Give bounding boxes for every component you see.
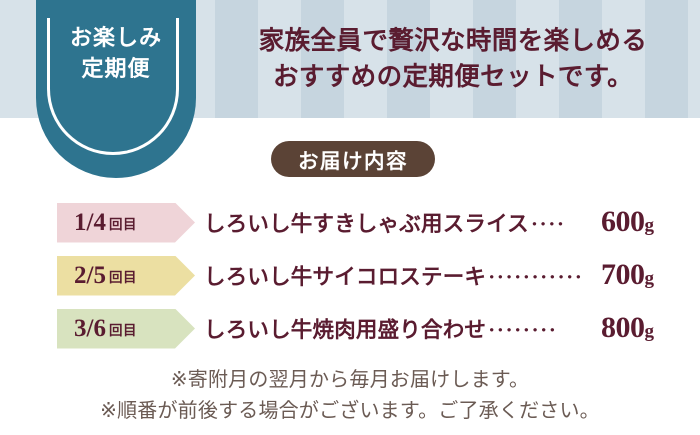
delivery-round-unit: 回目 <box>109 213 137 233</box>
shield-badge-line-2: 定期便 <box>36 53 196 84</box>
list-item: 1/4 回目 しろいし牛すきしゃぶ用スライス ···· 600 g <box>0 196 700 249</box>
delivery-contents-pill: お届け内容 <box>271 141 435 177</box>
delivery-item-name: しろいし牛すきしゃぶ用スライス <box>204 207 529 238</box>
footer-note-line-1: ※寄附月の翌月から毎月お届けします。 <box>0 365 700 396</box>
list-item: 2/5 回目 しろいし牛サイコロステーキ ··········· 700 g <box>0 249 700 302</box>
shield-badge-line-1: お楽しみ <box>36 22 196 53</box>
header-headline-line-1: 家族全員で贅沢な時間を楽しめる <box>259 24 648 58</box>
delivery-round-number: 1/4 <box>74 210 106 235</box>
dot-leader: ··········· <box>488 265 599 290</box>
footer-note-line-2: ※順番が前後する場合がございます。ご了承ください。 <box>0 396 700 427</box>
dot-leader: ········ <box>488 318 599 343</box>
delivery-item-name: しろいし牛焼肉用盛り合わせ <box>204 313 486 344</box>
delivery-schedule-list: 1/4 回目 しろいし牛すきしゃぶ用スライス ···· 600 g 2/5 回目… <box>0 196 700 355</box>
delivery-round-tag: 3/6 回目 <box>57 309 195 349</box>
delivery-item-amount: 600 <box>601 207 645 237</box>
shield-badge-label: お楽しみ 定期便 <box>36 22 196 84</box>
header-headline-line-2: おすすめの定期便セットです。 <box>273 60 633 94</box>
dot-leader: ···· <box>531 212 599 237</box>
delivery-item-body: しろいし牛すきしゃぶ用スライス ···· 600 g <box>204 207 654 238</box>
subscription-shield-badge: お楽しみ 定期便 <box>36 0 196 178</box>
delivery-round-number: 2/5 <box>74 263 106 288</box>
footer-notes: ※寄附月の翌月から毎月お届けします。 ※順番が前後する場合がございます。ご了承く… <box>0 365 700 427</box>
delivery-item-name: しろいし牛サイコロステーキ <box>204 260 486 291</box>
delivery-round-tag: 2/5 回目 <box>57 256 195 296</box>
list-item: 3/6 回目 しろいし牛焼肉用盛り合わせ ········ 800 g <box>0 302 700 355</box>
delivery-round-unit: 回目 <box>109 266 137 286</box>
delivery-item-body: しろいし牛焼肉用盛り合わせ ········ 800 g <box>204 313 654 344</box>
delivery-item-body: しろいし牛サイコロステーキ ··········· 700 g <box>204 260 654 291</box>
delivery-item-unit: g <box>645 322 655 341</box>
delivery-round-tag: 1/4 回目 <box>57 203 195 243</box>
header-headline: 家族全員で贅沢な時間を楽しめる おすすめの定期便セットです。 <box>206 0 700 118</box>
delivery-round-number: 3/6 <box>74 316 106 341</box>
delivery-item-unit: g <box>645 216 655 235</box>
delivery-round-unit: 回目 <box>109 319 137 339</box>
delivery-item-amount: 800 <box>601 313 645 343</box>
delivery-item-amount: 700 <box>601 260 645 290</box>
delivery-item-unit: g <box>645 269 655 288</box>
